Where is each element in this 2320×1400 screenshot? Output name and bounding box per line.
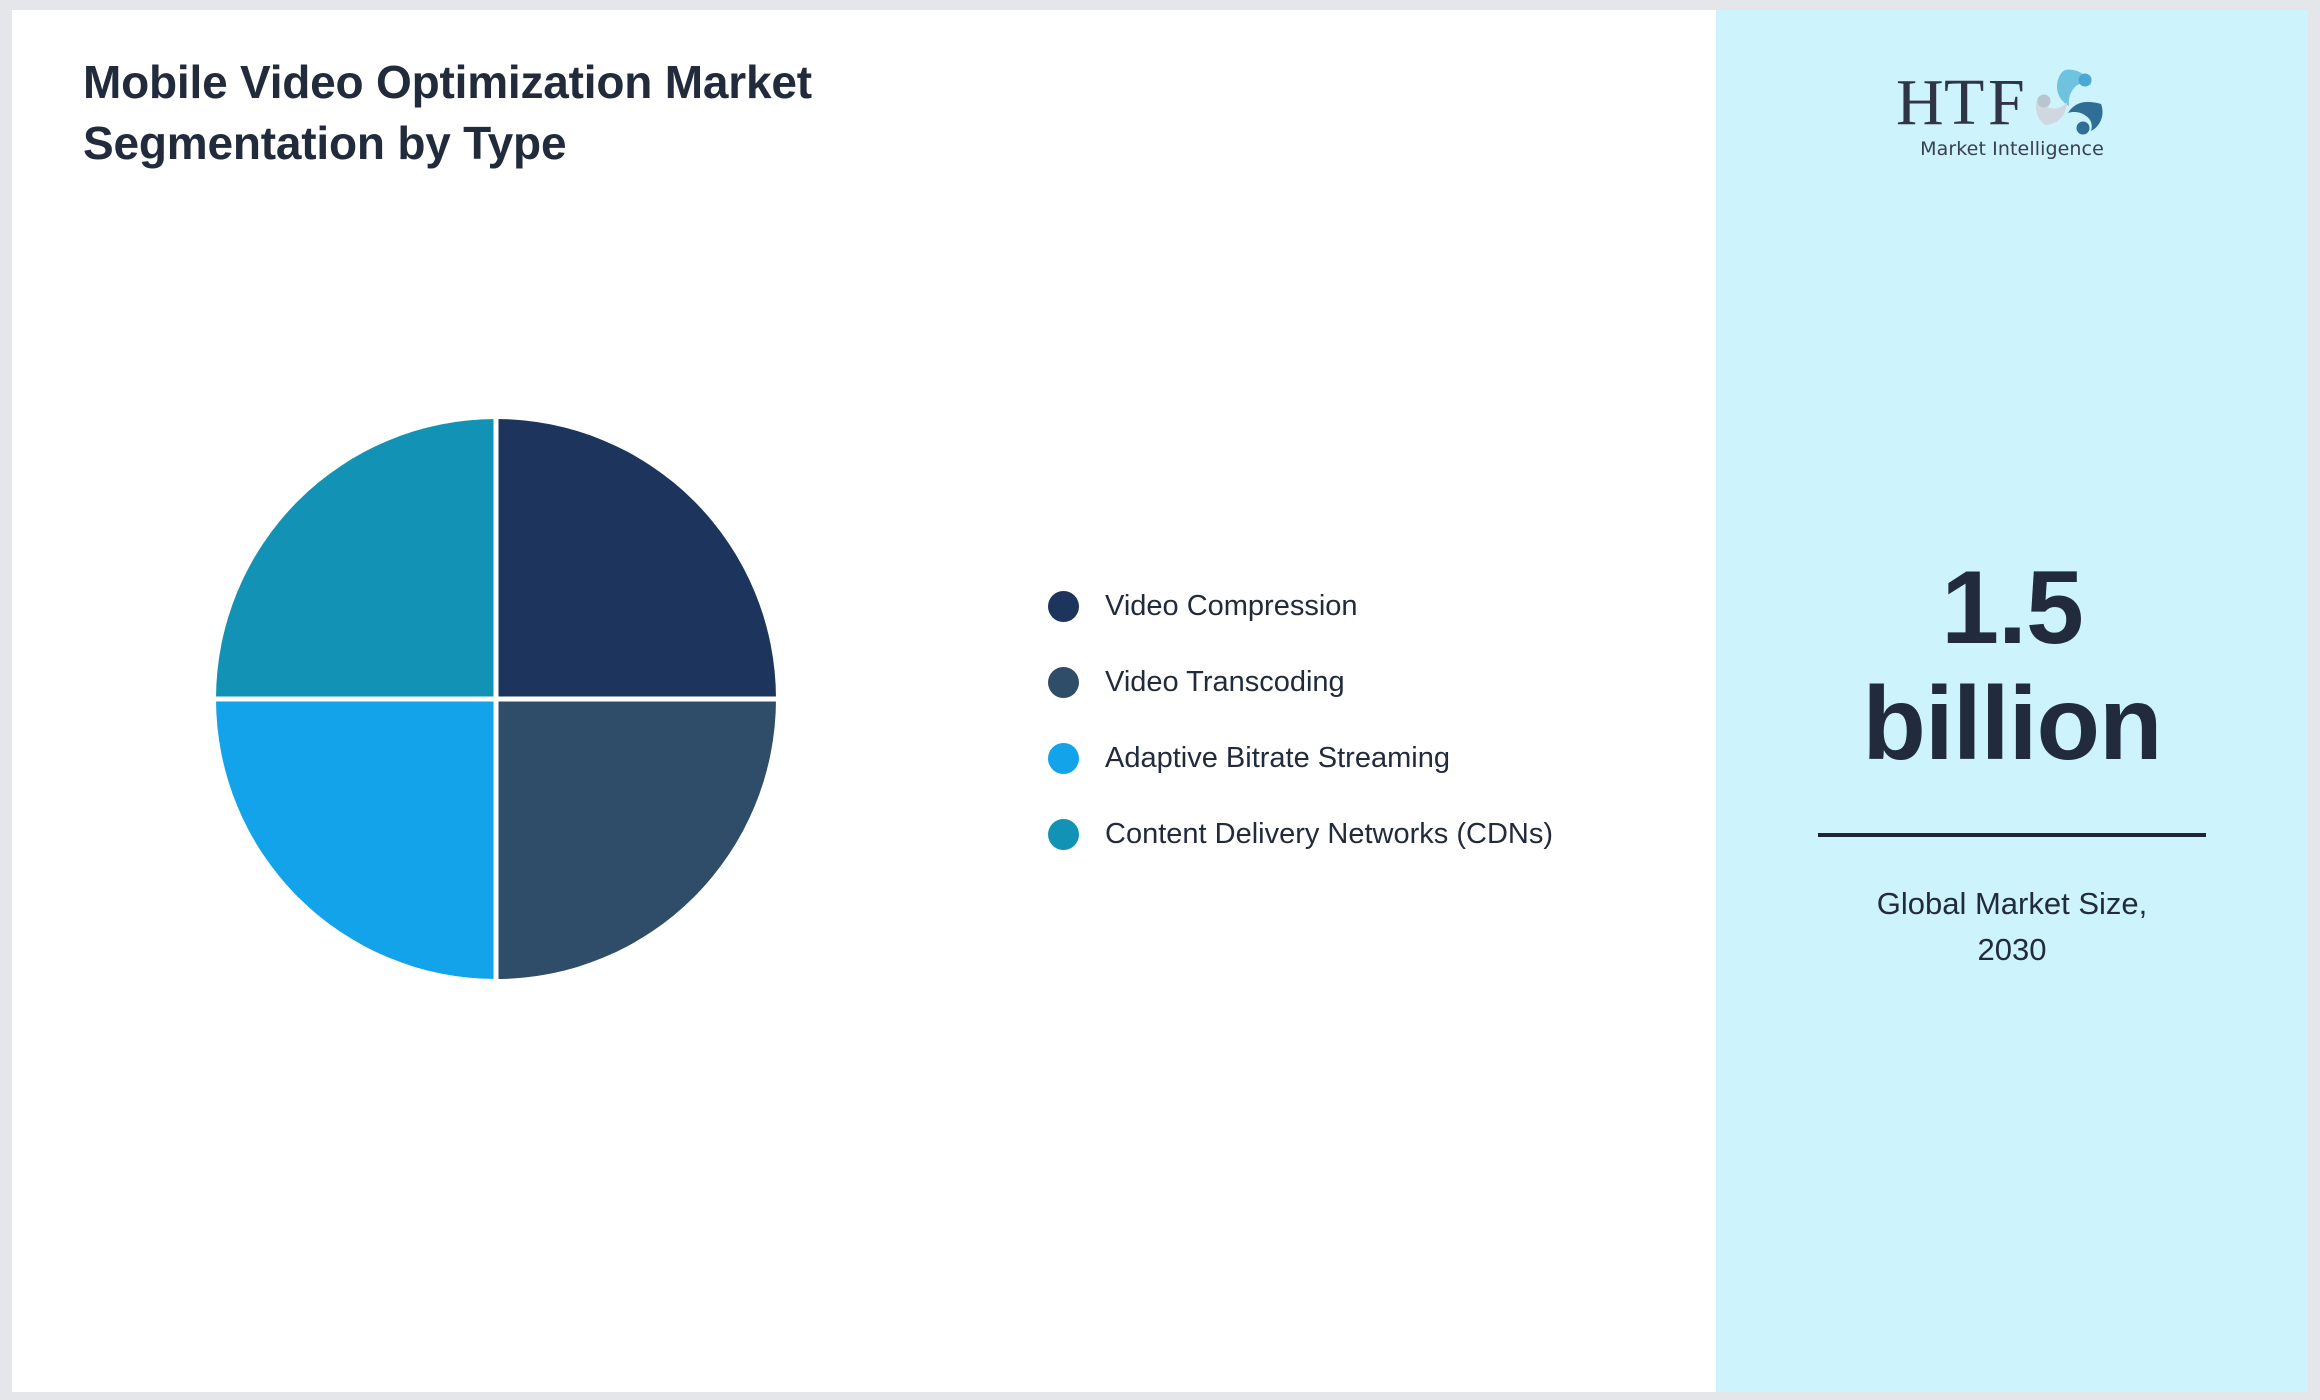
legend-item-label: Video Compression — [1105, 592, 1358, 621]
pie-chart-svg — [210, 413, 782, 985]
stat-value: 1.5 billion — [1802, 550, 2222, 783]
legend-item-content-delivery-networks[interactable]: Content Delivery Networks (CDNs) — [1048, 796, 1668, 872]
legend-item-adaptive-bitrate-streaming[interactable]: Adaptive Bitrate Streaming — [1048, 720, 1668, 796]
legend-swatch-icon — [1048, 591, 1079, 622]
legend-swatch-icon — [1048, 667, 1079, 698]
infographic-card: Mobile Video Optimization Market Segment… — [12, 10, 2308, 1392]
htf-logo-icon: H T F — [1894, 62, 2130, 136]
stat-divider — [1818, 833, 2206, 837]
legend-item-label: Adaptive Bitrate Streaming — [1105, 744, 1450, 773]
main-chart-panel: Mobile Video Optimization Market Segment… — [12, 10, 1716, 1392]
legend-item-video-transcoding[interactable]: Video Transcoding — [1048, 644, 1668, 720]
svg-text:F: F — [1988, 66, 2026, 136]
pie-slice-video-transcoding[interactable] — [496, 699, 776, 979]
svg-text:H: H — [1896, 66, 1945, 136]
stat-side-panel: H T F Market Intelligence 1. — [1716, 10, 2308, 1392]
stat-caption: Global Market Size, 2030 — [1842, 881, 2182, 974]
pie-slice-adaptive-bitrate-streaming[interactable] — [216, 699, 496, 979]
three-figures-circle-icon — [2036, 70, 2103, 135]
pie-slice-content-delivery-networks[interactable] — [216, 419, 496, 699]
chart-legend: Video Compression Video Transcoding Adap… — [1048, 568, 1668, 872]
stat-block: 1.5 billion Global Market Size, 2030 — [1716, 550, 2308, 974]
pie-chart — [210, 413, 782, 985]
pie-slice-video-compression[interactable] — [496, 419, 776, 699]
brand-logo[interactable]: H T F Market Intelligence — [1716, 62, 2308, 160]
page-title: Mobile Video Optimization Market Segment… — [83, 52, 1093, 173]
svg-text:T: T — [1944, 66, 1985, 136]
legend-item-label: Content Delivery Networks (CDNs) — [1105, 820, 1553, 849]
legend-swatch-icon — [1048, 819, 1079, 850]
logo-tagline: Market Intelligence — [1920, 138, 2104, 160]
legend-swatch-icon — [1048, 743, 1079, 774]
legend-item-label: Video Transcoding — [1105, 668, 1345, 697]
legend-item-video-compression[interactable]: Video Compression — [1048, 568, 1668, 644]
